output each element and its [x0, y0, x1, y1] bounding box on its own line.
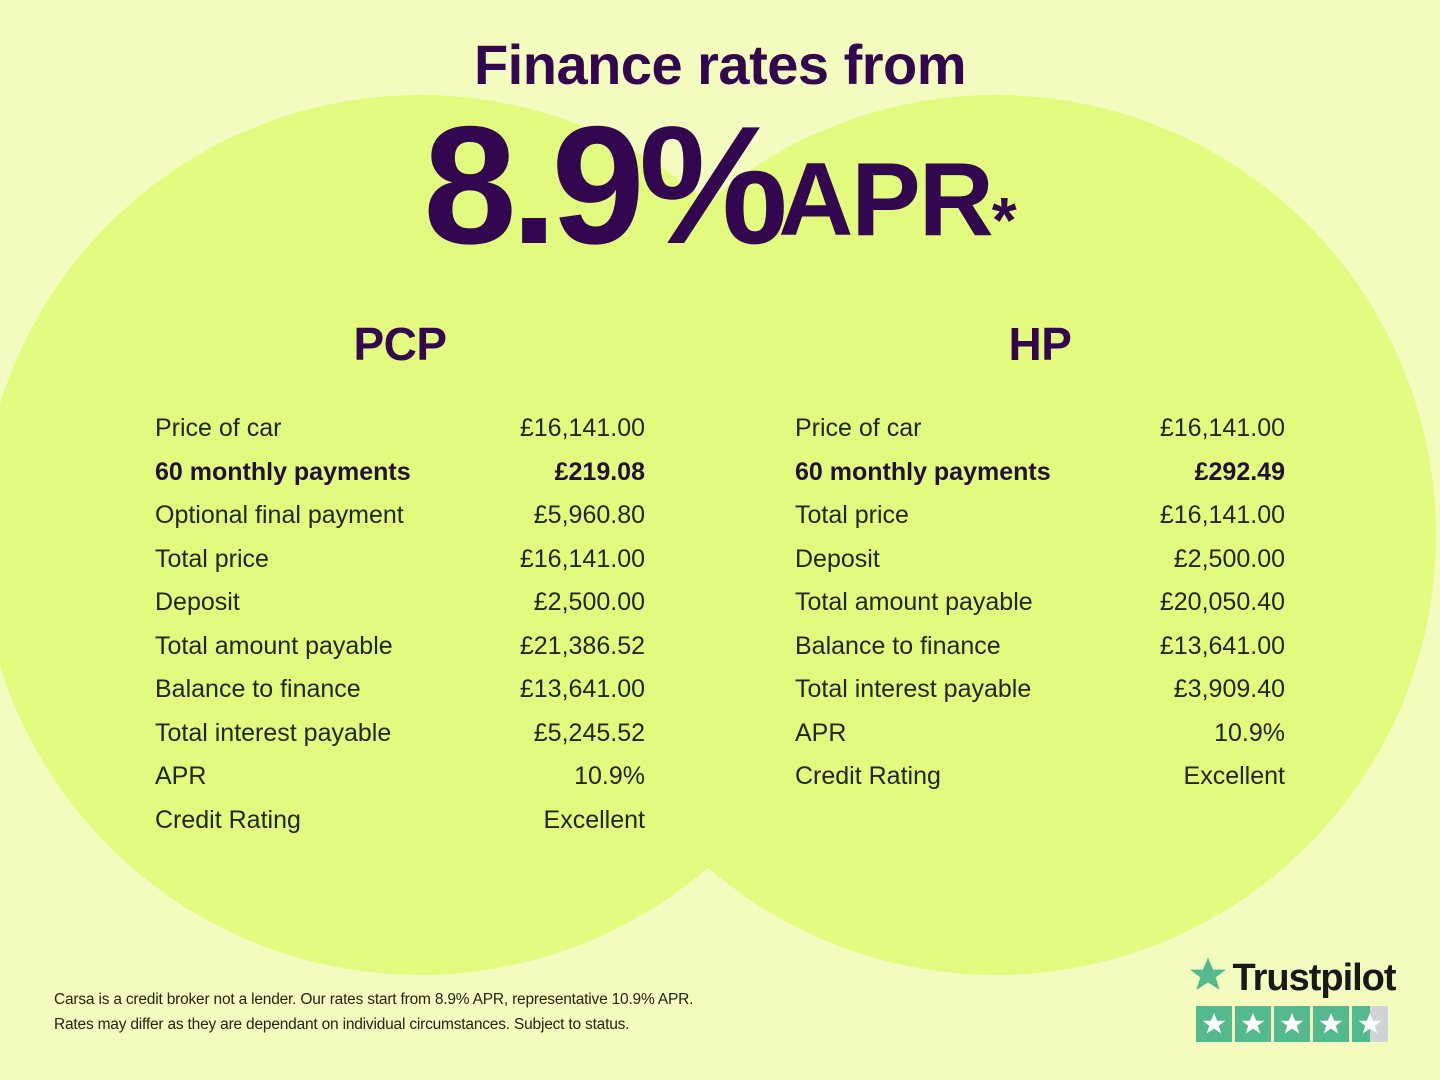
disclaimer-line-1: Carsa is a credit broker not a lender. O…: [54, 987, 693, 1013]
rating-star-icon: [1196, 1006, 1232, 1042]
table-row: Balance to finance £13,641.00: [155, 668, 645, 712]
row-value: £16,141.00: [484, 537, 645, 581]
disclaimer-text: Carsa is a credit broker not a lender. O…: [54, 987, 693, 1038]
footer: Carsa is a credit broker not a lender. O…: [0, 940, 1440, 1080]
row-label: Balance to finance: [795, 624, 1124, 668]
row-label: Total amount payable: [795, 581, 1124, 625]
row-value: £13,641.00: [484, 668, 645, 712]
finance-column-pcp: PCP Price of car £16,141.00 60 monthly p…: [155, 317, 645, 842]
hero-section: Finance rates from 8.9%APR*: [0, 0, 1440, 269]
row-label: Balance to finance: [155, 668, 484, 712]
row-label: Total interest payable: [155, 711, 484, 755]
row-value: Excellent: [1124, 755, 1285, 799]
row-label: Total amount payable: [155, 624, 484, 668]
row-label: Deposit: [795, 537, 1124, 581]
trustpilot-star-rating: [1192, 1006, 1392, 1042]
table-row: Total interest payable £5,245.52: [155, 711, 645, 755]
table-row: Optional final payment £5,960.80: [155, 494, 645, 538]
table-row: Price of car £16,141.00: [155, 407, 645, 451]
finance-comparison: PCP Price of car £16,141.00 60 monthly p…: [0, 317, 1440, 842]
table-row: Balance to finance £13,641.00: [795, 624, 1285, 668]
table-row: Deposit £2,500.00: [155, 581, 645, 625]
row-value: £13,641.00: [1124, 624, 1285, 668]
row-label: Total interest payable: [795, 668, 1124, 712]
table-row: 60 monthly payments £219.08: [155, 450, 645, 494]
row-value: £16,141.00: [484, 407, 645, 451]
table-row: Price of car £16,141.00: [795, 407, 1285, 451]
trustpilot-logo: Trustpilot: [1192, 955, 1392, 1000]
row-label: Credit Rating: [155, 798, 484, 842]
row-value: £5,960.80: [484, 494, 645, 538]
row-label: 60 monthly payments: [795, 450, 1124, 494]
row-value: £16,141.00: [1124, 407, 1285, 451]
table-row: Deposit £2,500.00: [795, 537, 1285, 581]
row-label: Price of car: [155, 407, 484, 451]
row-label: Credit Rating: [795, 755, 1124, 799]
column-title-pcp: PCP: [155, 317, 645, 371]
table-row: Credit Rating Excellent: [795, 755, 1285, 799]
table-row: Total price £16,141.00: [795, 494, 1285, 538]
row-label: Deposit: [155, 581, 484, 625]
trustpilot-star-icon: [1188, 955, 1228, 1000]
row-value: £16,141.00: [1124, 494, 1285, 538]
row-value: £292.49: [1124, 450, 1285, 494]
hero-asterisk: *: [992, 184, 1017, 256]
hero-rate: 8.9%APR*: [0, 101, 1440, 269]
rating-star-icon: [1274, 1006, 1310, 1042]
trustpilot-wordmark: Trustpilot: [1232, 959, 1395, 997]
column-title-hp: HP: [795, 317, 1285, 371]
hero-kicker: Finance rates from: [0, 36, 1440, 95]
finance-rates-promo: Finance rates from 8.9%APR* PCP Price of…: [0, 0, 1440, 1080]
row-value: £5,245.52: [484, 711, 645, 755]
table-row: APR 10.9%: [795, 711, 1285, 755]
row-label: Price of car: [795, 407, 1124, 451]
row-value: £219.08: [484, 450, 645, 494]
row-label: Optional final payment: [155, 494, 484, 538]
hero-rate-value: 8.9%: [423, 91, 782, 279]
rating-star-icon: [1235, 1006, 1271, 1042]
row-label: 60 monthly payments: [155, 450, 484, 494]
hp-table: Price of car £16,141.00 60 monthly payme…: [795, 407, 1285, 799]
table-row: 60 monthly payments £292.49: [795, 450, 1285, 494]
table-row: Total interest payable £3,909.40: [795, 668, 1285, 712]
row-value: £3,909.40: [1124, 668, 1285, 712]
table-row: APR 10.9%: [155, 755, 645, 799]
row-label: Total price: [155, 537, 484, 581]
table-row: Credit Rating Excellent: [155, 798, 645, 842]
row-label: APR: [795, 711, 1124, 755]
row-value: £21,386.52: [484, 624, 645, 668]
row-value: £2,500.00: [484, 581, 645, 625]
hero-apr-label: APR: [778, 142, 992, 258]
table-row: Total amount payable £20,050.40: [795, 581, 1285, 625]
row-label: APR: [155, 755, 484, 799]
rating-half-star-icon: [1352, 1006, 1388, 1042]
row-value: 10.9%: [484, 755, 645, 799]
row-value: Excellent: [484, 798, 645, 842]
disclaimer-line-2: Rates may differ as they are dependant o…: [54, 1012, 693, 1038]
row-value: 10.9%: [1124, 711, 1285, 755]
finance-column-hp: HP Price of car £16,141.00 60 monthly pa…: [795, 317, 1285, 842]
table-row: Total amount payable £21,386.52: [155, 624, 645, 668]
row-label: Total price: [795, 494, 1124, 538]
rating-star-icon: [1313, 1006, 1349, 1042]
table-row: Total price £16,141.00: [155, 537, 645, 581]
row-value: £20,050.40: [1124, 581, 1285, 625]
pcp-table: Price of car £16,141.00 60 monthly payme…: [155, 407, 645, 842]
trustpilot-rating[interactable]: Trustpilot: [1192, 955, 1392, 1042]
row-value: £2,500.00: [1124, 537, 1285, 581]
